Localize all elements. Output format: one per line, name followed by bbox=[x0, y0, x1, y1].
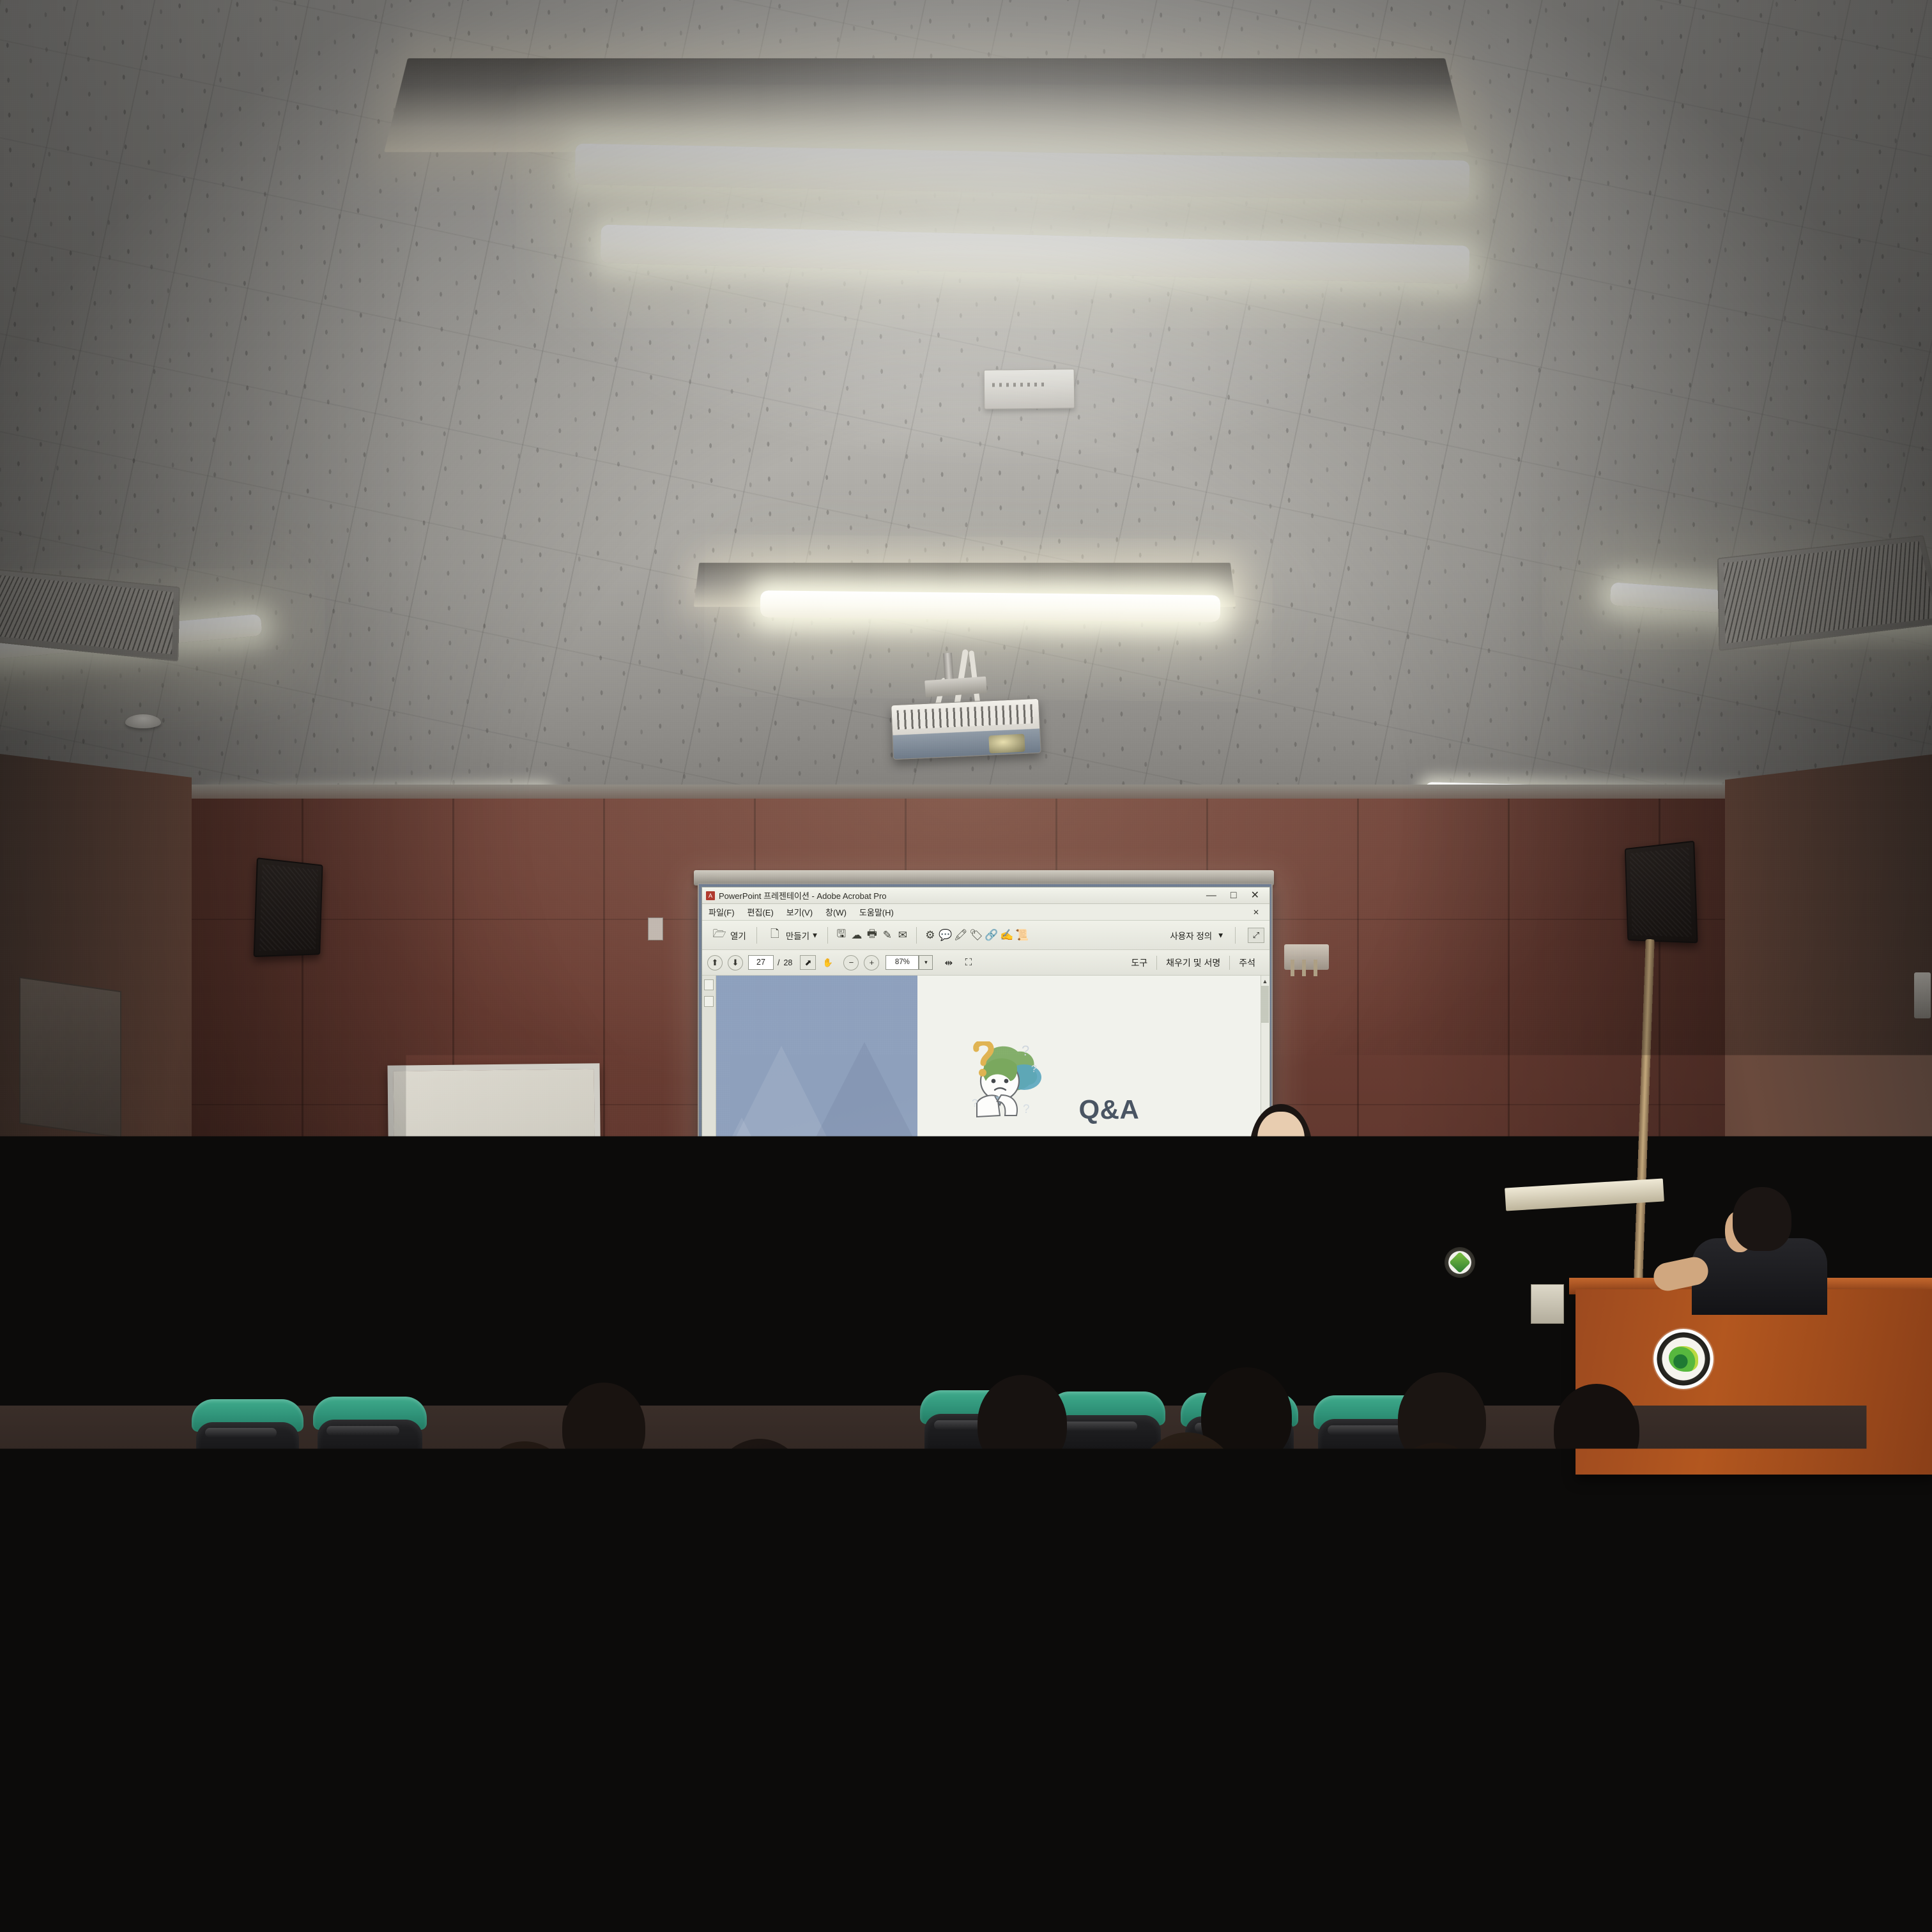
audience-head bbox=[1554, 1384, 1639, 1476]
current-page-input[interactable]: 27 bbox=[748, 955, 774, 970]
folder-open-icon: 🗁 bbox=[712, 928, 727, 943]
navigation-pane-rail[interactable] bbox=[702, 976, 716, 1289]
create-button[interactable]: 🗋 만들기 ▾ bbox=[763, 926, 822, 945]
toolbar-separator-3 bbox=[916, 927, 917, 944]
projector-lens-icon bbox=[988, 734, 1025, 754]
clock-time: 오후 2:15 bbox=[1199, 1292, 1238, 1303]
stamp-icon[interactable]: 🏷 bbox=[969, 928, 984, 943]
decorative-triangle-5 bbox=[836, 1137, 917, 1249]
whiteboard-stand-crossbar bbox=[396, 1338, 562, 1347]
audience-head bbox=[562, 1383, 645, 1472]
taskbar-clock[interactable]: 오후 2:15 2019-12-04 bbox=[1197, 1292, 1240, 1311]
window-title-bar[interactable]: A PowerPoint 프레젠테이션 - Adobe Acrobat Pro … bbox=[702, 887, 1269, 904]
audience-seating-area bbox=[0, 1406, 1932, 1932]
slide-title: Q&A bbox=[1079, 1094, 1140, 1125]
menu-item-view[interactable]: 보기(V) bbox=[786, 906, 813, 918]
podium-emblem-icon bbox=[1445, 1247, 1475, 1278]
expand-toolbar-button[interactable]: ⤢ bbox=[1248, 928, 1264, 943]
svg-text:?: ? bbox=[972, 1097, 977, 1109]
mobile-whiteboard[interactable] bbox=[387, 1063, 601, 1250]
eyeglasses-icon bbox=[815, 1212, 846, 1235]
audience-head bbox=[707, 1439, 813, 1569]
key-hook bbox=[1284, 944, 1329, 970]
cloud-upload-icon[interactable]: ☁ bbox=[849, 928, 864, 943]
fill-and-sign-tab[interactable]: 채우기 및 서명 bbox=[1157, 956, 1229, 969]
scroll-up-arrow-icon[interactable]: ▲ bbox=[1261, 977, 1269, 986]
toolbar-separator-4 bbox=[1235, 927, 1236, 944]
page-separator: / bbox=[778, 958, 779, 967]
seat[interactable] bbox=[151, 1595, 312, 1743]
audience-clothing bbox=[1374, 1866, 1514, 1932]
volume-icon[interactable]: 🔊 bbox=[1128, 1294, 1144, 1310]
menu-item-file[interactable]: 파일(F) bbox=[709, 906, 735, 918]
svg-text:?: ? bbox=[1022, 1043, 1029, 1059]
window-title-text: PowerPoint 프레젠테이션 - Adobe Acrobat Pro bbox=[719, 889, 887, 901]
audience-head bbox=[977, 1375, 1067, 1471]
highlight-icon[interactable]: 🖍 bbox=[953, 928, 969, 943]
toolbar-separator-2 bbox=[827, 927, 828, 944]
scrollbar-thumb[interactable] bbox=[1261, 986, 1269, 1023]
certificate-icon[interactable]: 📜 bbox=[1015, 928, 1030, 943]
document-close-button[interactable]: ✕ bbox=[1253, 908, 1263, 917]
zoom-level-input[interactable]: 87% bbox=[885, 955, 919, 970]
menu-item-help[interactable]: 도움말(H) bbox=[859, 906, 894, 918]
next-page-button[interactable]: ⬇ bbox=[728, 955, 743, 970]
svg-text:?: ? bbox=[1031, 1064, 1037, 1075]
hand-tool-icon[interactable]: ✋ bbox=[820, 955, 836, 970]
audience-clothing bbox=[409, 1853, 569, 1932]
wall-fixture-right bbox=[1914, 972, 1931, 1018]
menu-item-edit[interactable]: 편집(E) bbox=[747, 906, 774, 918]
save-icon[interactable]: 🖫 bbox=[834, 928, 849, 943]
whiteboard-stand-left bbox=[395, 1250, 406, 1345]
select-tool-icon[interactable]: ⬈ bbox=[800, 955, 816, 970]
tools-tab[interactable]: 도구 bbox=[1122, 956, 1156, 969]
toolbar-separator-1 bbox=[756, 927, 757, 944]
audience-head bbox=[1489, 1542, 1616, 1706]
comment-tab[interactable]: 주석 bbox=[1230, 956, 1264, 969]
create-button-label: 만들기 bbox=[786, 929, 809, 942]
seat[interactable] bbox=[220, 1480, 349, 1596]
zoom-out-button[interactable]: − bbox=[843, 955, 859, 970]
customize-caret-icon[interactable]: ▾ bbox=[1218, 930, 1223, 940]
audience-head bbox=[55, 1449, 157, 1577]
customize-toolbar-label[interactable]: 사용자 정의 bbox=[1170, 929, 1212, 942]
sign-icon[interactable]: ✍ bbox=[999, 928, 1015, 943]
seat[interactable] bbox=[735, 1733, 948, 1932]
comment-icon[interactable]: 💬 bbox=[938, 928, 953, 943]
close-button[interactable]: ✕ bbox=[1251, 891, 1259, 901]
audience-head bbox=[470, 1441, 579, 1575]
show-hidden-icons-icon[interactable]: ︿ bbox=[1082, 1294, 1098, 1310]
podium-control-plate[interactable] bbox=[1531, 1284, 1564, 1324]
fit-width-icon[interactable]: ⇹ bbox=[940, 955, 956, 970]
seat[interactable] bbox=[664, 1588, 828, 1739]
audience-clothing bbox=[1204, 1735, 1319, 1818]
mouse-cursor-icon bbox=[1185, 1239, 1199, 1255]
settings-icon[interactable]: ⚙ bbox=[923, 928, 938, 943]
email-icon[interactable]: ✉ bbox=[895, 928, 910, 943]
wall-control-panel[interactable] bbox=[648, 917, 663, 940]
seated-staff-head bbox=[1733, 1187, 1791, 1251]
minimize-button[interactable]: — bbox=[1206, 891, 1216, 901]
toolbar-customize-group[interactable]: 사용자 정의 ▾ ⤢ bbox=[1170, 927, 1264, 944]
auditorium-scene: A PowerPoint 프레젠테이션 - Adobe Acrobat Pro … bbox=[0, 0, 1932, 1932]
open-button-label: 열기 bbox=[730, 929, 746, 942]
menu-item-window[interactable]: 창(W) bbox=[825, 906, 847, 918]
clock-date: 2019-12-04 bbox=[1197, 1303, 1240, 1312]
presenter-hands bbox=[1266, 1188, 1298, 1220]
main-toolbar[interactable]: 🗁 열기 🗋 만들기 ▾ 🖫 ☁ 🖶 ✎ ✉ bbox=[702, 921, 1269, 950]
thinking-person-illustration: ? ? ? ? bbox=[955, 1041, 1051, 1144]
wall-speaker-left bbox=[254, 857, 323, 957]
total-pages-label: 28 bbox=[783, 958, 792, 967]
audience-head bbox=[1685, 1650, 1877, 1905]
fit-page-icon[interactable]: ⛶ bbox=[960, 955, 976, 970]
power-icon[interactable]: ◔ bbox=[1151, 1294, 1167, 1310]
bookmarks-icon[interactable] bbox=[704, 996, 714, 1007]
audience-item-red bbox=[75, 1910, 114, 1932]
slide-right-white-panel: ? ? ? ? Q&A bbox=[917, 976, 1261, 1289]
display-icon[interactable]: 🖥 bbox=[1105, 1294, 1121, 1310]
audience-head bbox=[1131, 1432, 1243, 1569]
previous-page-button[interactable]: ⬆ bbox=[707, 955, 723, 970]
maximize-button[interactable]: □ bbox=[1230, 891, 1237, 901]
wall-plaque bbox=[19, 977, 121, 1138]
institution-emblem-icon bbox=[1653, 1329, 1713, 1389]
menu-bar[interactable]: 파일(F) 편집(E) 보기(V) 창(W) 도움말(H) ✕ bbox=[702, 904, 1269, 921]
create-pdf-icon: 🗋 bbox=[767, 928, 783, 943]
seat[interactable] bbox=[1588, 1481, 1722, 1601]
zoom-dropdown-icon[interactable]: ▾ bbox=[919, 955, 933, 970]
whiteboard-marker-red[interactable] bbox=[466, 1243, 493, 1250]
right-panel-tabs[interactable]: 도구 채우기 및 서명 주석 bbox=[1122, 956, 1264, 970]
seat[interactable] bbox=[0, 1597, 134, 1744]
audience-head bbox=[889, 1533, 1021, 1703]
open-button[interactable]: 🗁 열기 bbox=[707, 926, 751, 945]
wall-speaker-right bbox=[1625, 841, 1698, 944]
create-caret-icon: ▾ bbox=[813, 930, 817, 940]
window-controls[interactable]: — □ ✕ bbox=[1206, 891, 1266, 901]
zoom-in-button[interactable]: + bbox=[864, 955, 879, 970]
attach-icon[interactable]: 🔗 bbox=[984, 928, 999, 943]
edit-pdf-icon[interactable]: ✎ bbox=[880, 928, 895, 943]
svg-text:?: ? bbox=[1023, 1103, 1030, 1116]
acrobat-app-icon: A bbox=[706, 891, 715, 900]
ime-korean-icon[interactable]: 한 bbox=[1174, 1294, 1190, 1310]
page-navigation-toolbar[interactable]: ⬆ ⬇ 27 / 28 ⬈ ✋ − + 87% ▾ ⇹ ⛶ 도구 bbox=[702, 950, 1269, 976]
print-icon[interactable]: 🖶 bbox=[864, 928, 880, 943]
audience-clothing bbox=[1092, 1853, 1239, 1932]
page-thumbnails-icon[interactable] bbox=[704, 979, 714, 990]
whiteboard-stand-right bbox=[550, 1245, 561, 1348]
